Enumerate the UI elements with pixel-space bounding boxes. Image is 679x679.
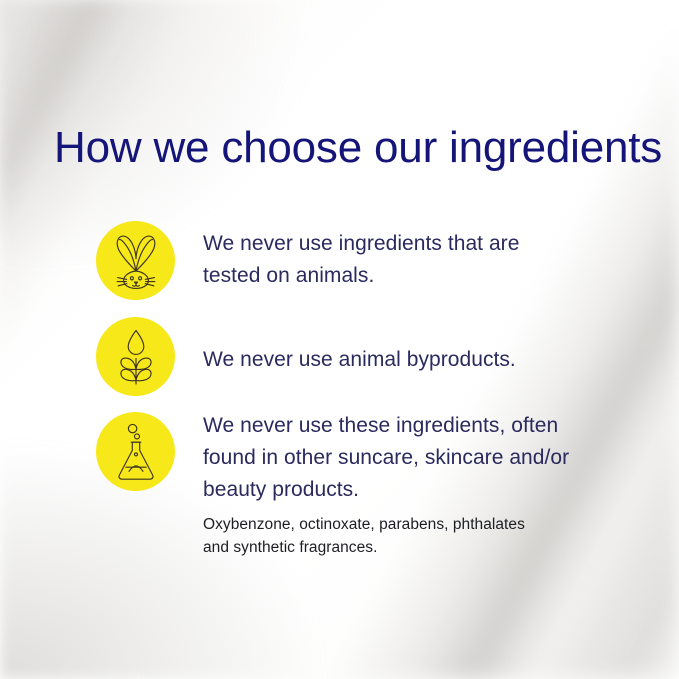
list-item-line: found in other suncare, skincare and/or <box>203 442 613 474</box>
list-item-line: beauty products. <box>203 474 613 506</box>
list-item: We never use these ingredients, often fo… <box>96 412 616 572</box>
list-item-subnote-line: and synthetic fragrances. <box>203 536 613 559</box>
list-item: We never use animal byproducts. <box>96 317 616 412</box>
benefits-list: We never use ingredients that are tested… <box>96 221 616 572</box>
page-title: How we choose our ingredients <box>54 122 662 174</box>
list-item-line: tested on animals. <box>203 260 613 292</box>
badge-circle-no-animal-byproducts <box>96 317 175 396</box>
list-item-subnote-line: Oxybenzone, octinoxate, parabens, phthal… <box>203 513 613 536</box>
badge-circle-cruelty-free <box>96 221 175 300</box>
list-item-line: We never use animal byproducts. <box>203 344 613 376</box>
list-item-text: We never use ingredients that are tested… <box>203 228 613 292</box>
ingredients-info-graphic: How we choose our ingredients <box>0 0 679 679</box>
list-item-line: We never use ingredients that are <box>203 228 613 260</box>
list-item-text: We never use animal byproducts. <box>203 344 613 376</box>
plant-leaf-droplet-icon <box>115 328 157 386</box>
list-item-subnote: Oxybenzone, octinoxate, parabens, phthal… <box>203 513 613 559</box>
bunny-heart-ears-icon <box>113 232 159 290</box>
list-item-text: We never use these ingredients, often fo… <box>203 410 613 559</box>
list-item: We never use ingredients that are tested… <box>96 221 616 317</box>
list-item-line: We never use these ingredients, often <box>203 410 613 442</box>
lab-flask-icon <box>115 423 157 481</box>
badge-circle-no-harsh-chemicals <box>96 412 175 491</box>
